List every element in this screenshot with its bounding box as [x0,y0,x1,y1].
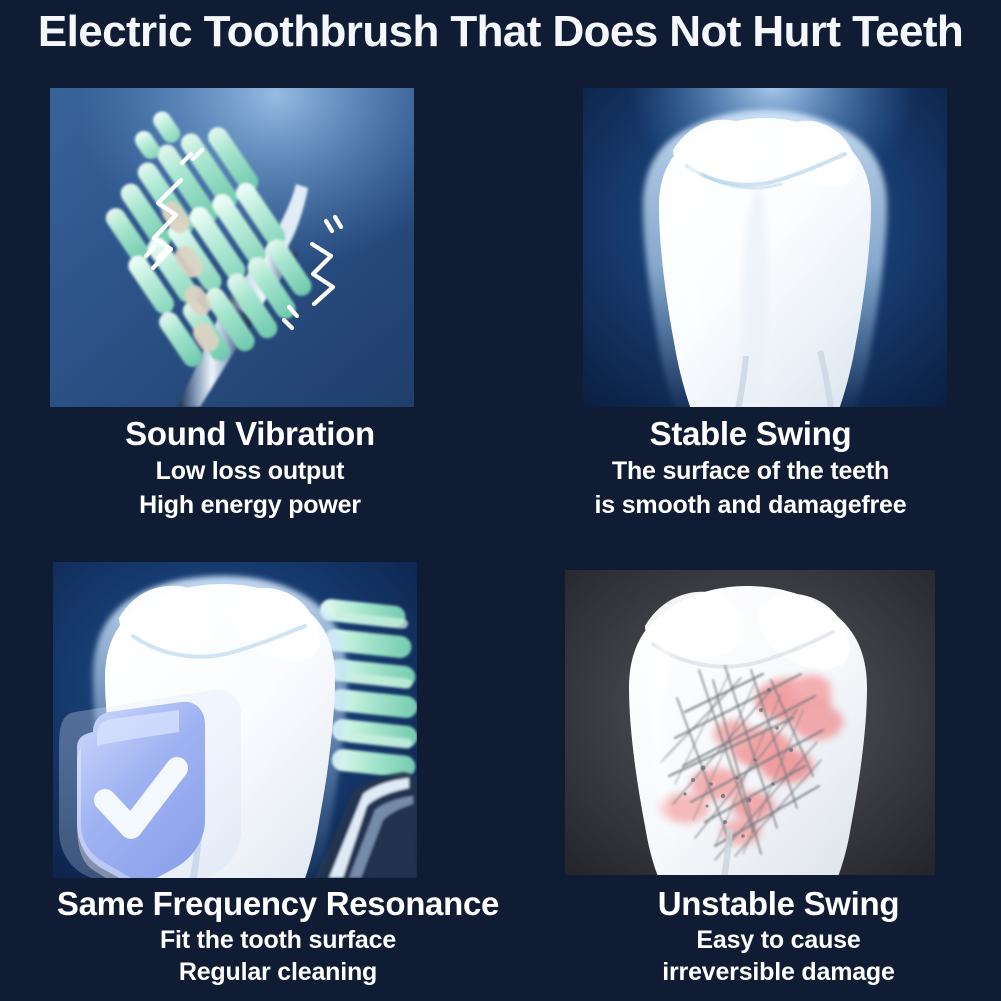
caption-sound-vibration: Sound Vibration Low loss output High ene… [0,414,500,522]
caption-unstable-swing: Unstable Swing Easy to cause irreversibl… [556,884,1001,988]
illustration-sound-vibration [50,88,414,407]
caption-subline-1: Easy to cause [556,924,1001,956]
caption-subline-2: irreversible damage [556,956,1001,988]
illustration-unstable-swing [565,570,935,875]
caption-subline-1: The surface of the teeth [500,454,1001,488]
illustration-stable-swing [583,88,947,407]
page-title: Electric Toothbrush That Does Not Hurt T… [0,6,1001,58]
caption-heading: Sound Vibration [0,414,500,454]
caption-subline-2: High energy power [0,488,500,522]
caption-subline-1: Fit the tooth surface [0,924,556,956]
caption-subline-1: Low loss output [0,454,500,488]
infographic-page: Electric Toothbrush That Does Not Hurt T… [0,0,1001,1001]
caption-subline-2: Regular cleaning [0,956,556,988]
caption-heading: Stable Swing [500,414,1001,454]
caption-stable-swing: Stable Swing The surface of the teeth is… [500,414,1001,522]
caption-heading: Same Frequency Resonance [0,884,556,924]
caption-same-frequency-resonance: Same Frequency Resonance Fit the tooth s… [0,884,556,988]
illustration-same-frequency-resonance [53,562,417,878]
caption-heading: Unstable Swing [556,884,1001,924]
caption-subline-2: is smooth and damagefree [500,488,1001,522]
